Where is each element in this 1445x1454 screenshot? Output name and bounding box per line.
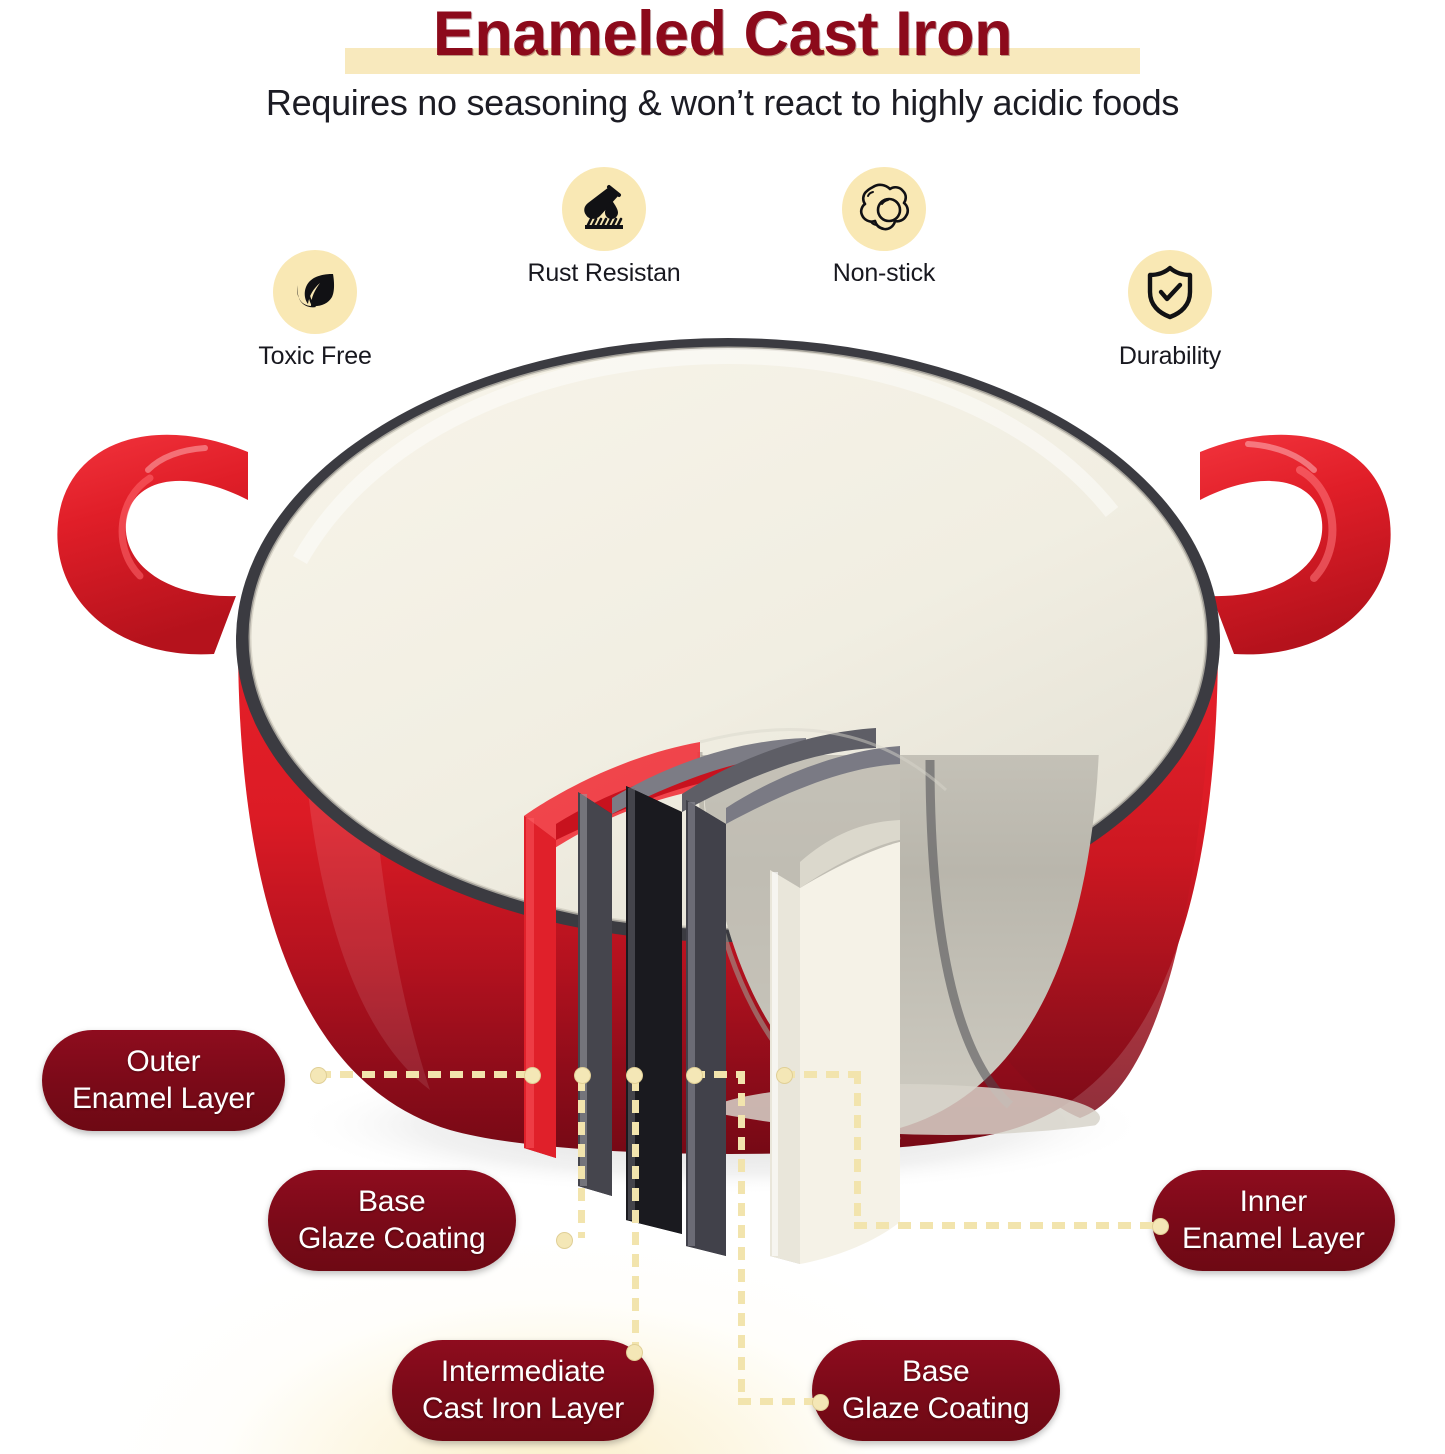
callout-line-2: Enamel Layer [1182,1221,1365,1258]
connector-dot-intermediate-layer [626,1067,643,1084]
connector-dot-outer-enamel-layer [524,1067,541,1084]
connector-inner-enamel-stem [854,1071,861,1225]
connector-dot-intermediate-pill [626,1344,643,1361]
connector-dot-base-glaze-left-pill [556,1232,573,1249]
callout-line-2: Glaze Coating [298,1221,486,1258]
connector-base-glaze-right-stem [738,1071,745,1401]
connector-dot-outer-enamel-pill [310,1067,327,1084]
callout-line-1: Outer [72,1044,255,1081]
callout-line-1: Base [842,1354,1030,1391]
callout-line-1: Base [298,1184,486,1221]
callout-line-1: Intermediate [422,1354,624,1391]
connector-inner-enamel-foot [854,1222,1160,1229]
connector-dot-base-glaze-left-layer [574,1067,591,1084]
callout-line-2: Glaze Coating [842,1391,1030,1428]
connector-dot-base-glaze-right-pill [812,1394,829,1411]
connector-dot-base-glaze-right-layer [686,1067,703,1084]
callout-line-2: Enamel Layer [72,1081,255,1118]
pot-handle-left [57,435,248,655]
connector-inner-enamel-top [782,1071,860,1078]
connector-outer-enamel [318,1071,534,1078]
infographic-canvas: Enameled Cast Iron Requires no seasoning… [0,0,1445,1454]
callout-outer-enamel-layer[interactable]: Outer Enamel Layer [42,1030,285,1131]
layer-inner-enamel [770,820,900,1264]
connector-base-glaze-right-foot [738,1398,820,1405]
callout-line-2: Cast Iron Layer [422,1391,624,1428]
callout-line-1: Inner [1182,1184,1365,1221]
connector-base-glaze-left [578,1078,585,1238]
connector-dot-inner-enamel-layer [776,1067,793,1084]
callout-intermediate-cast-iron-layer[interactable]: Intermediate Cast Iron Layer [392,1340,654,1441]
pot-handle-right [1200,435,1391,655]
callout-base-glaze-coating-left[interactable]: Base Glaze Coating [268,1170,516,1271]
connector-intermediate-cast-iron [632,1078,639,1352]
callout-base-glaze-coating-right[interactable]: Base Glaze Coating [812,1340,1060,1441]
callout-inner-enamel-layer[interactable]: Inner Enamel Layer [1152,1170,1395,1271]
connector-dot-inner-enamel-pill [1152,1218,1169,1235]
